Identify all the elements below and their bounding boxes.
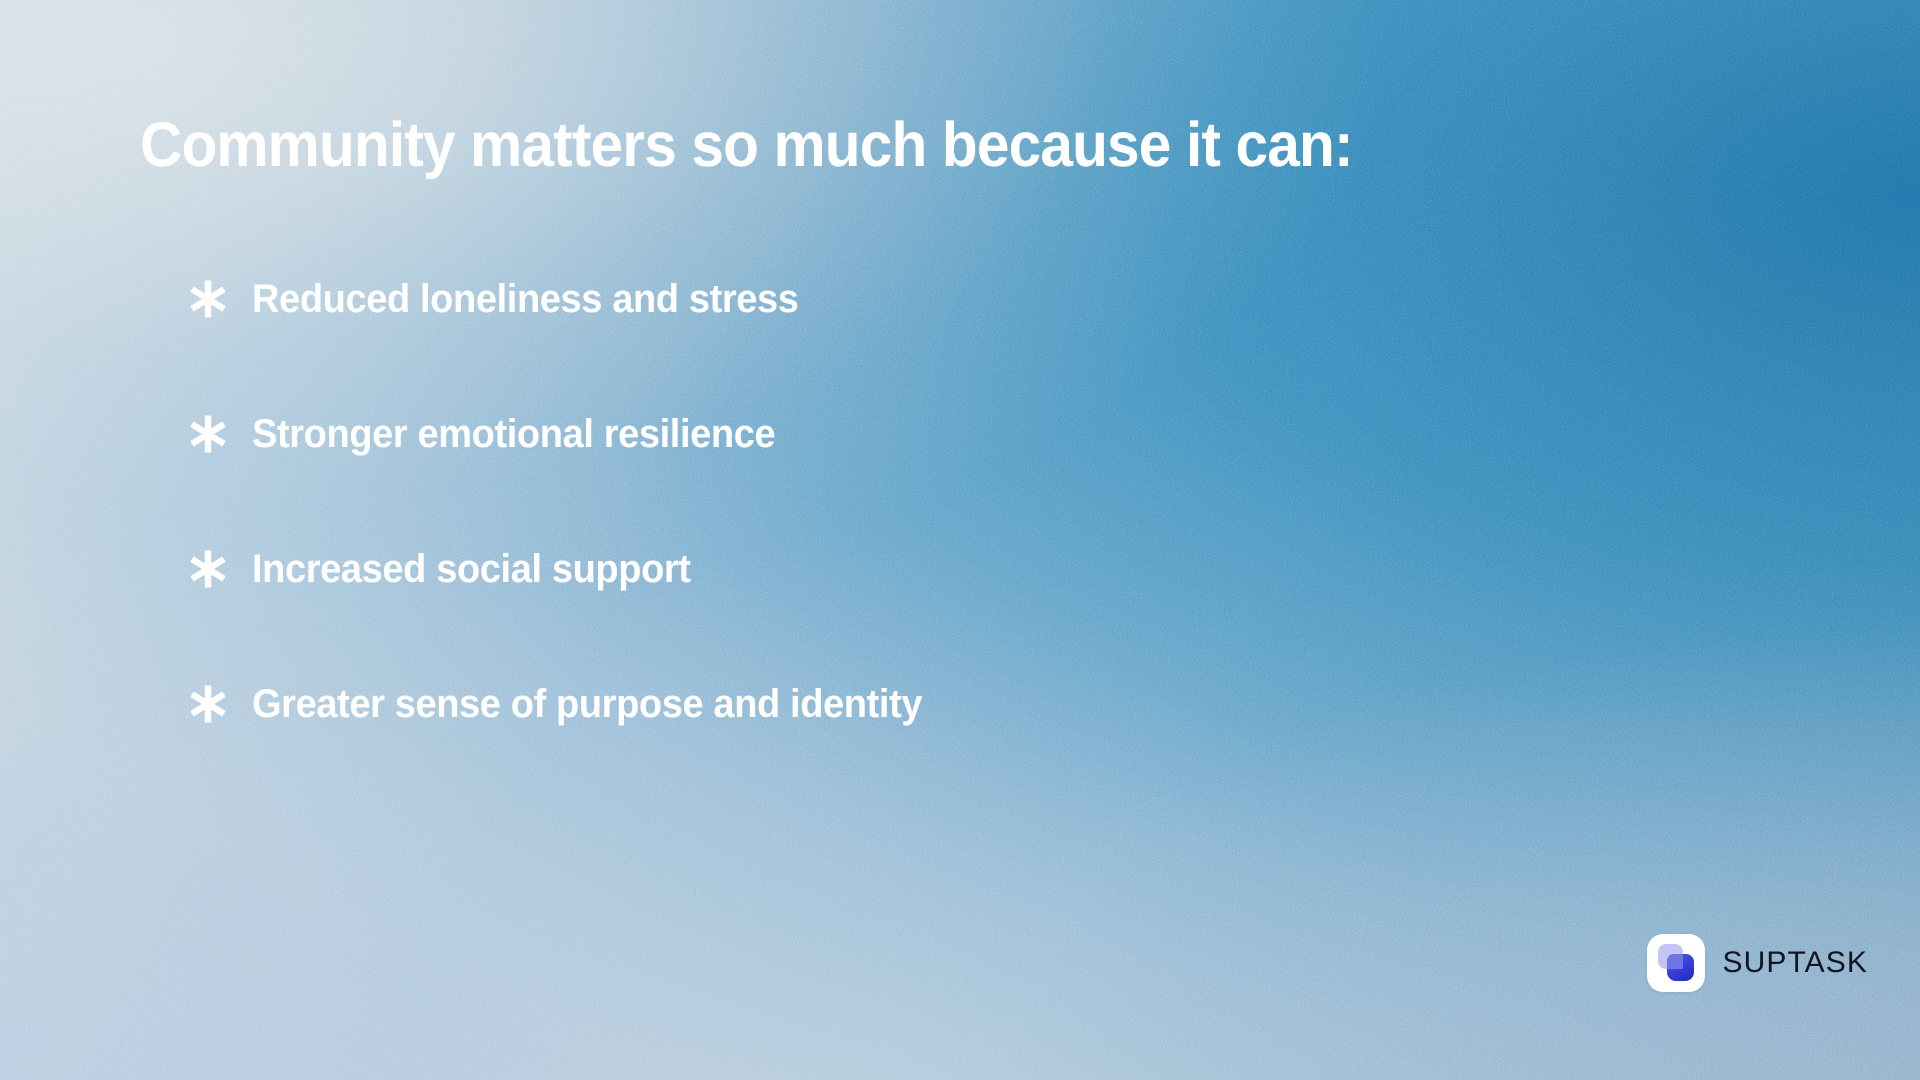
brand-lockup: SUPTASK bbox=[1647, 934, 1868, 992]
slide-title: Community matters so much because it can… bbox=[140, 112, 1353, 178]
asterisk-icon bbox=[186, 412, 230, 456]
brand-name: SUPTASK bbox=[1722, 948, 1868, 978]
list-item: Reduced loneliness and stress bbox=[186, 270, 1386, 328]
asterisk-icon bbox=[186, 547, 230, 591]
logo-square-overlap bbox=[1667, 954, 1683, 969]
suptask-logo-icon bbox=[1647, 934, 1705, 992]
benefits-list: Reduced loneliness and stress Stronger e… bbox=[186, 270, 1386, 733]
list-item: Stronger emotional resilience bbox=[186, 405, 1386, 463]
asterisk-icon bbox=[186, 277, 230, 321]
list-item-label: Stronger emotional resilience bbox=[252, 414, 775, 454]
list-item: Increased social support bbox=[186, 540, 1386, 598]
asterisk-icon bbox=[186, 682, 230, 726]
presentation-slide: Community matters so much because it can… bbox=[0, 0, 1920, 1080]
list-item-label: Increased social support bbox=[252, 549, 691, 589]
list-item-label: Greater sense of purpose and identity bbox=[252, 684, 922, 724]
list-item: Greater sense of purpose and identity bbox=[186, 675, 1386, 733]
list-item-label: Reduced loneliness and stress bbox=[252, 279, 799, 319]
